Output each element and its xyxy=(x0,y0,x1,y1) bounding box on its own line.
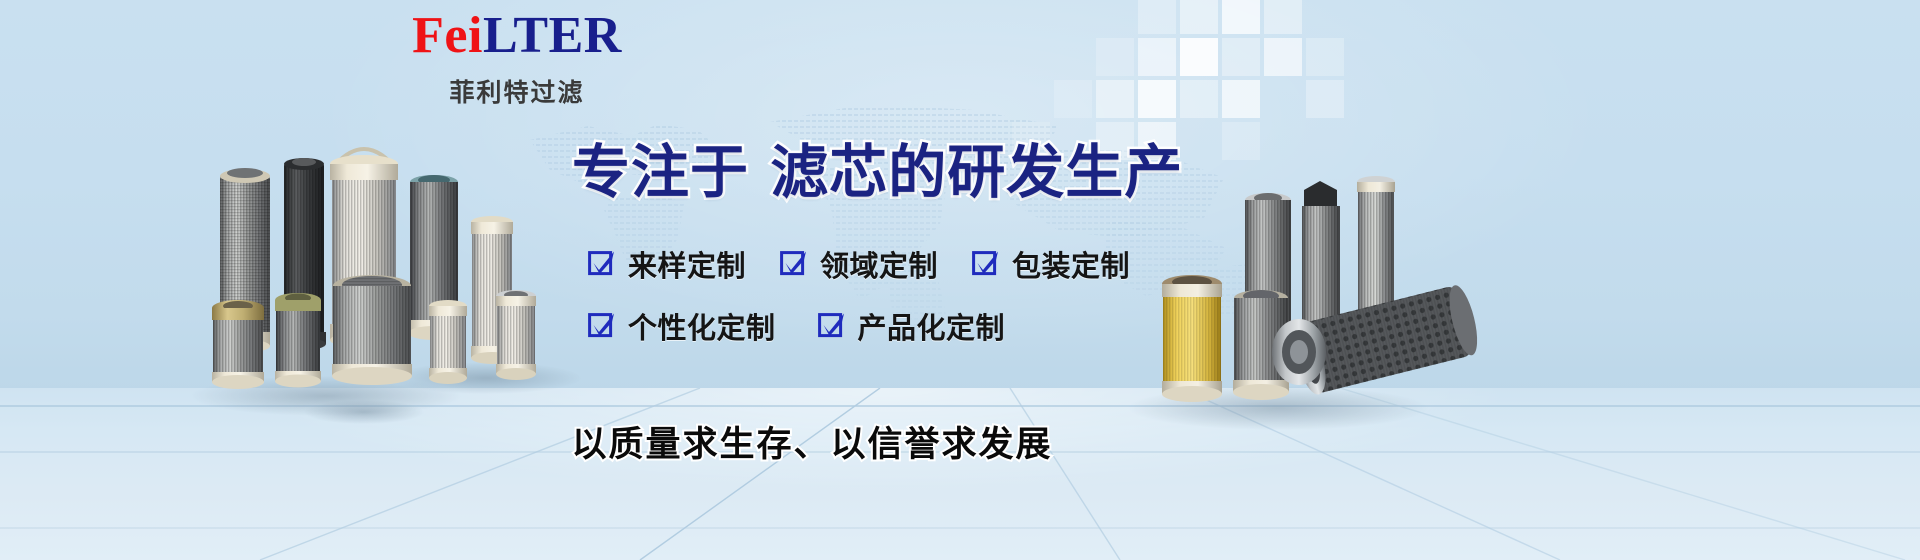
feature-item[interactable]: 产品化定制 xyxy=(818,305,1006,347)
checkbox-check-icon xyxy=(972,249,1002,279)
logo-wordmark-part-2: LTER xyxy=(483,7,622,64)
feature-item[interactable]: 包装定制 xyxy=(972,243,1130,285)
checkbox-check-icon xyxy=(588,249,618,279)
checkbox-check-icon xyxy=(780,249,810,279)
logo[interactable]: FeiLTER 菲利特过滤 xyxy=(392,8,642,109)
feature-label: 来样定制 xyxy=(628,243,746,285)
checkbox-check-icon xyxy=(588,311,618,341)
tagline-text: 以质量求生存、以信誉求发展 xyxy=(571,416,1052,467)
feature-item[interactable]: 来样定制 xyxy=(588,243,746,285)
feature-label: 领域定制 xyxy=(820,243,938,285)
feature-list: 来样定制 领域定制 包装定制 xyxy=(588,243,1208,347)
tagline: 以质量求生存、以信誉求发展 xyxy=(0,416,1920,467)
headline: 专注于 滤芯的研发生产 xyxy=(572,139,1183,205)
feature-label: 包装定制 xyxy=(1012,243,1130,285)
feature-item[interactable]: 领域定制 xyxy=(780,243,938,285)
feature-row-1: 来样定制 领域定制 包装定制 xyxy=(588,243,1208,285)
feature-row-2: 个性化定制 产品化定制 xyxy=(588,305,1208,347)
feature-item[interactable]: 个性化定制 xyxy=(588,305,776,347)
checkbox-check-icon xyxy=(818,311,848,341)
logo-wordmark-part-1: Fei xyxy=(412,7,483,64)
perspective-floor-grid xyxy=(0,388,1920,560)
promo-banner: FeiLTER 菲利特过滤 专注于 滤芯的研发生产 来样定制 领域定制 xyxy=(0,0,1920,560)
logo-wordmark: FeiLTER xyxy=(392,8,642,64)
feature-label: 产品化定制 xyxy=(858,305,1006,347)
logo-chinese-name: 菲利特过滤 xyxy=(392,73,642,109)
feature-label: 个性化定制 xyxy=(628,305,776,347)
